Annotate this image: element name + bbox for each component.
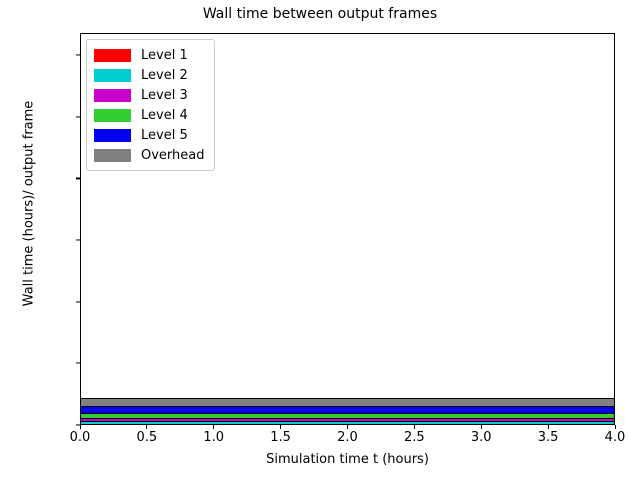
y-tick-mark [76,116,80,117]
legend-item-level-5[interactable]: Level 5 [94,125,205,145]
y-tick-mark [76,363,80,364]
area-band-level-2 [81,421,614,424]
legend-swatch-icon [94,149,131,162]
area-band-level-3 [81,418,614,421]
area-band-level-4 [81,413,614,418]
y-tick-mark [76,178,80,179]
legend-label: Overhead [141,149,205,162]
legend-item-level-1[interactable]: Level 1 [94,45,205,65]
x-tick-mark [414,425,415,429]
x-tick-mark [347,425,348,429]
legend-label: Level 4 [141,109,188,122]
legend-swatch-icon [94,49,131,62]
area-band-overhead [81,398,614,406]
legend-swatch-icon [94,89,131,102]
x-tick-mark [80,425,81,429]
legend-swatch-icon [94,129,131,142]
x-tick-mark [213,425,214,429]
x-tick-mark [615,425,616,429]
area-band-level-5 [81,406,614,412]
legend-swatch-icon [94,69,131,82]
legend-label: Level 1 [141,49,188,62]
legend-label: Level 2 [141,69,188,82]
legend-label: Level 3 [141,89,188,102]
x-tick-mark [280,425,281,429]
chart-figure: Wall time between output frames Wall tim… [0,0,640,480]
legend-swatch-icon [94,109,131,122]
legend-item-level-4[interactable]: Level 4 [94,105,205,125]
y-tick-mark [76,55,80,56]
x-tick-mark [548,425,549,429]
x-tick-label: 4.0 [575,430,640,445]
x-tick-mark [481,425,482,429]
legend-item-level-3[interactable]: Level 3 [94,85,205,105]
legend-label: Level 5 [141,129,188,142]
chart-title: Wall time between output frames [0,6,640,22]
y-tick-mark [76,240,80,241]
legend-item-level-2[interactable]: Level 2 [94,65,205,85]
x-tick-mark [146,425,147,429]
legend-item-overhead[interactable]: Overhead [94,145,205,165]
x-axis-label: Simulation time t (hours) [80,452,615,467]
y-axis-label: Wall time (hours)/ output frame [22,8,37,400]
chart-legend: Level 1Level 2Level 3Level 4Level 5Overh… [86,39,215,171]
y-tick-mark [76,301,80,302]
